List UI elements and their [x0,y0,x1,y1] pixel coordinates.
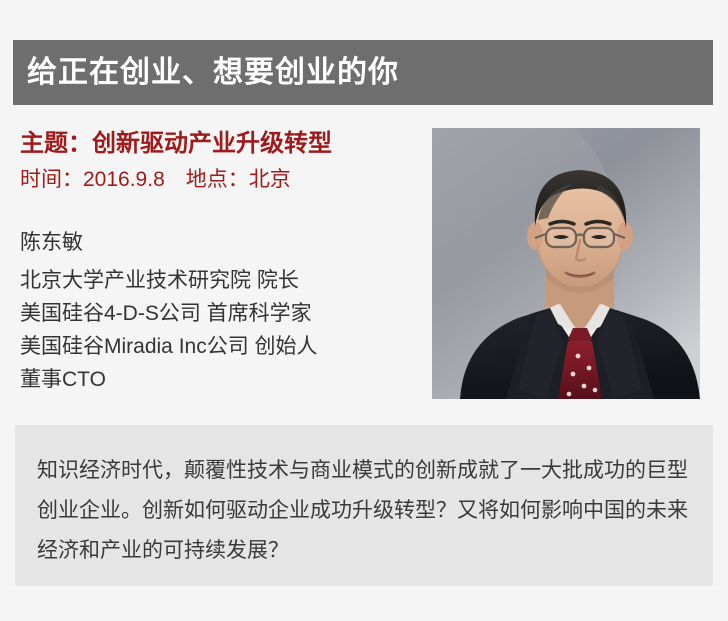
speaker-portrait-photo [432,128,700,399]
speaker-credential-line: 董事CTO [20,363,430,396]
speaker-credential-line: 美国硅谷4-D-S公司 首席科学家 [20,297,430,330]
speaker-name: 陈东敏 [20,226,430,259]
event-info-block: 主题：创新驱动产业升级转型 时间：2016.9.8 地点：北京 [20,128,420,194]
event-poster: 给正在创业、想要创业的你 主题：创新驱动产业升级转型 时间：2016.9.8 地… [0,0,728,621]
event-time-location: 时间：2016.9.8 地点：北京 [20,166,420,194]
description-text: 知识经济时代，颠覆性技术与商业模式的创新成就了一大批成功的巨型创业企业。创新如何… [37,451,691,571]
portrait-illustration [432,128,700,399]
description-panel: 知识经济时代，颠覆性技术与商业模式的创新成就了一大批成功的巨型创业企业。创新如何… [15,425,713,586]
speaker-credential-line: 美国硅谷Miradia Inc公司 创始人 [20,330,430,363]
banner-title: 给正在创业、想要创业的你 [27,58,399,88]
speaker-credential-line: 北京大学产业技术研究院 院长 [20,264,430,297]
event-topic: 主题：创新驱动产业升级转型 [20,128,420,160]
speaker-block: 陈东敏 北京大学产业技术研究院 院长 美国硅谷4-D-S公司 首席科学家 美国硅… [20,226,430,396]
header-banner: 给正在创业、想要创业的你 [13,40,713,105]
